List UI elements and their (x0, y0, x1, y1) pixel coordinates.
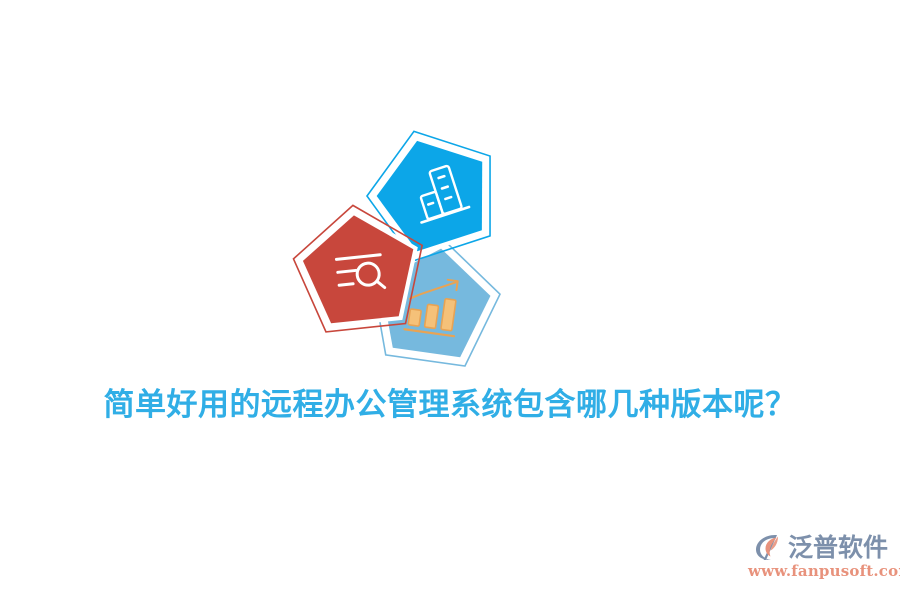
fanpu-c-mark-icon (754, 532, 784, 562)
brand-watermark[interactable]: 泛普软件 www.fanpusoft.com (748, 530, 888, 592)
three-pentagon-cluster (285, 108, 575, 393)
logo-url: www.fanpusoft.com (748, 564, 888, 579)
page-title: 简单好用的远程办公管理系统包含哪几种版本呢？ (0, 386, 900, 425)
logo-row: 泛普软件 (748, 530, 888, 564)
logo-wordmark: 泛普软件 (788, 535, 888, 560)
banner-canvas: 简单好用的远程办公管理系统包含哪几种版本呢？ 泛普软件 www.fanpusof… (0, 0, 900, 600)
